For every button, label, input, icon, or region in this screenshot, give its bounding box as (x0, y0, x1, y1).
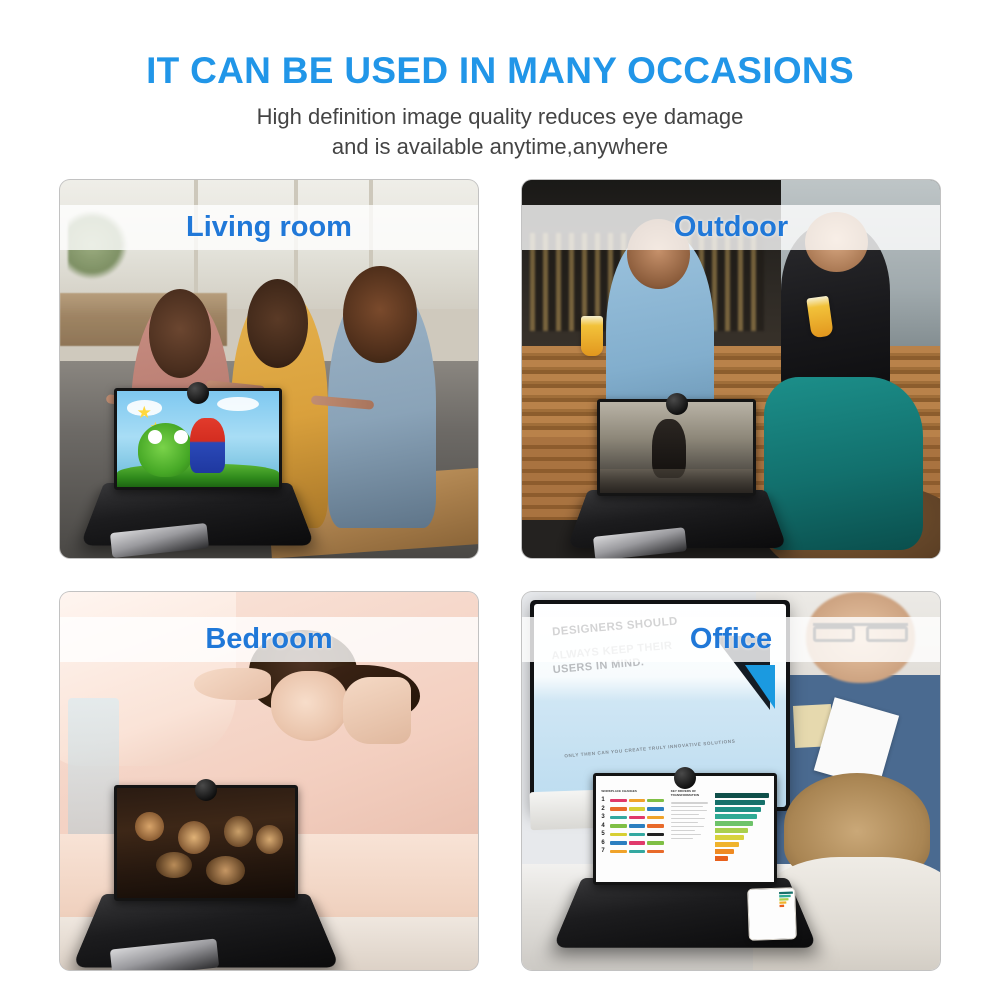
screen-magnifier-device (597, 399, 756, 550)
infographic-row: 2 (601, 806, 663, 812)
beer-glass-1 (581, 316, 603, 356)
infographic-left-column: WORKPLACE CHANGES 1 2 3 4 5 6 7 (596, 776, 667, 881)
infographic-row: 4 (601, 823, 663, 829)
row-number: 4 (601, 823, 608, 829)
woman-2 (781, 225, 890, 391)
glasses-icon (813, 623, 909, 636)
infographic-mid-heading: KEY DRIVERS OF TRANSFORMATION (671, 789, 712, 798)
panel-bedroom[interactable]: Bedroom (60, 592, 478, 970)
movie-screen-content (600, 402, 753, 493)
plant-decor (68, 210, 128, 280)
infographic-row: 7 (601, 848, 663, 854)
slide-footer: ONLY THEN CAN YOU CREATE TRULY INNOVATIV… (565, 739, 736, 759)
magnifier-knob (187, 382, 209, 404)
colleague-background (806, 592, 915, 683)
infographic-bar-chart (713, 776, 773, 881)
magnifier-screen: WORKPLACE CHANGES 1 2 3 4 5 6 7 KEY DRIV… (593, 773, 777, 884)
infographic-row: 5 (601, 831, 663, 837)
page-header: IT CAN BE USED IN MANY OCCASIONS High de… (0, 0, 1000, 161)
water-glass (68, 698, 118, 849)
teal-skirt (764, 377, 923, 551)
infographic-left-heading: WORKPLACE CHANGES (601, 789, 663, 794)
panel-living-room[interactable]: ★ ★ Living room (60, 180, 478, 558)
magnifier-knob (195, 779, 217, 801)
magnifier-knob (666, 393, 688, 415)
row-number: 2 (601, 806, 608, 812)
infographic-row: 1 (601, 797, 663, 803)
slide-heading: DESIGNERS SHOULD (552, 614, 679, 639)
office-photo: DESIGNERS SHOULD ALWAYS KEEP THEIR USERS… (522, 592, 940, 970)
mario-character (190, 418, 225, 473)
magnifier-screen (114, 785, 298, 901)
screen-magnifier-device (114, 785, 298, 966)
row-number: 6 (601, 840, 608, 846)
occasions-grid: ★ ★ Living room (60, 180, 940, 970)
page-subtitle: High definition image quality reduces ey… (0, 102, 1000, 161)
infographic-row: 6 (601, 840, 663, 846)
living-room-photo: ★ ★ (60, 180, 478, 558)
page-title: IT CAN BE USED IN MANY OCCASIONS (0, 52, 1000, 91)
screen-magnifier-device: ★ ★ (114, 388, 281, 547)
subtitle-line-2: and is available anytime,anywhere (0, 132, 1000, 162)
magnifier-knob (674, 767, 696, 789)
infographic-row: 3 (601, 814, 663, 820)
screen-magnifier-device: WORKPLACE CHANGES 1 2 3 4 5 6 7 KEY DRIV… (593, 773, 777, 947)
panel-outdoor[interactable]: Outdoor (522, 180, 940, 558)
concert-screen-content (117, 788, 295, 898)
row-number: 1 (601, 797, 608, 803)
slide-subheading: ALWAYS KEEP THEIR USERS IN MIND. (551, 639, 674, 678)
yoshi-character (138, 423, 193, 477)
row-number: 3 (601, 814, 608, 820)
feature-page: IT CAN BE USED IN MANY OCCASIONS High de… (0, 0, 1000, 1000)
game-screen-content: ★ ★ (117, 391, 278, 487)
infographic-mid-column: KEY DRIVERS OF TRANSFORMATION (667, 776, 713, 881)
panel-office[interactable]: DESIGNERS SHOULD ALWAYS KEEP THEIR USERS… (522, 592, 940, 970)
bedroom-photo (60, 592, 478, 970)
infographic-screen-content: WORKPLACE CHANGES 1 2 3 4 5 6 7 KEY DRIV… (596, 776, 774, 881)
sleeping-woman (185, 630, 411, 789)
subtitle-line-1: High definition image quality reduces ey… (0, 102, 1000, 132)
outdoor-photo (522, 180, 940, 558)
row-number: 5 (601, 831, 608, 837)
row-number: 7 (601, 848, 608, 854)
phone-in-holder (747, 887, 797, 941)
